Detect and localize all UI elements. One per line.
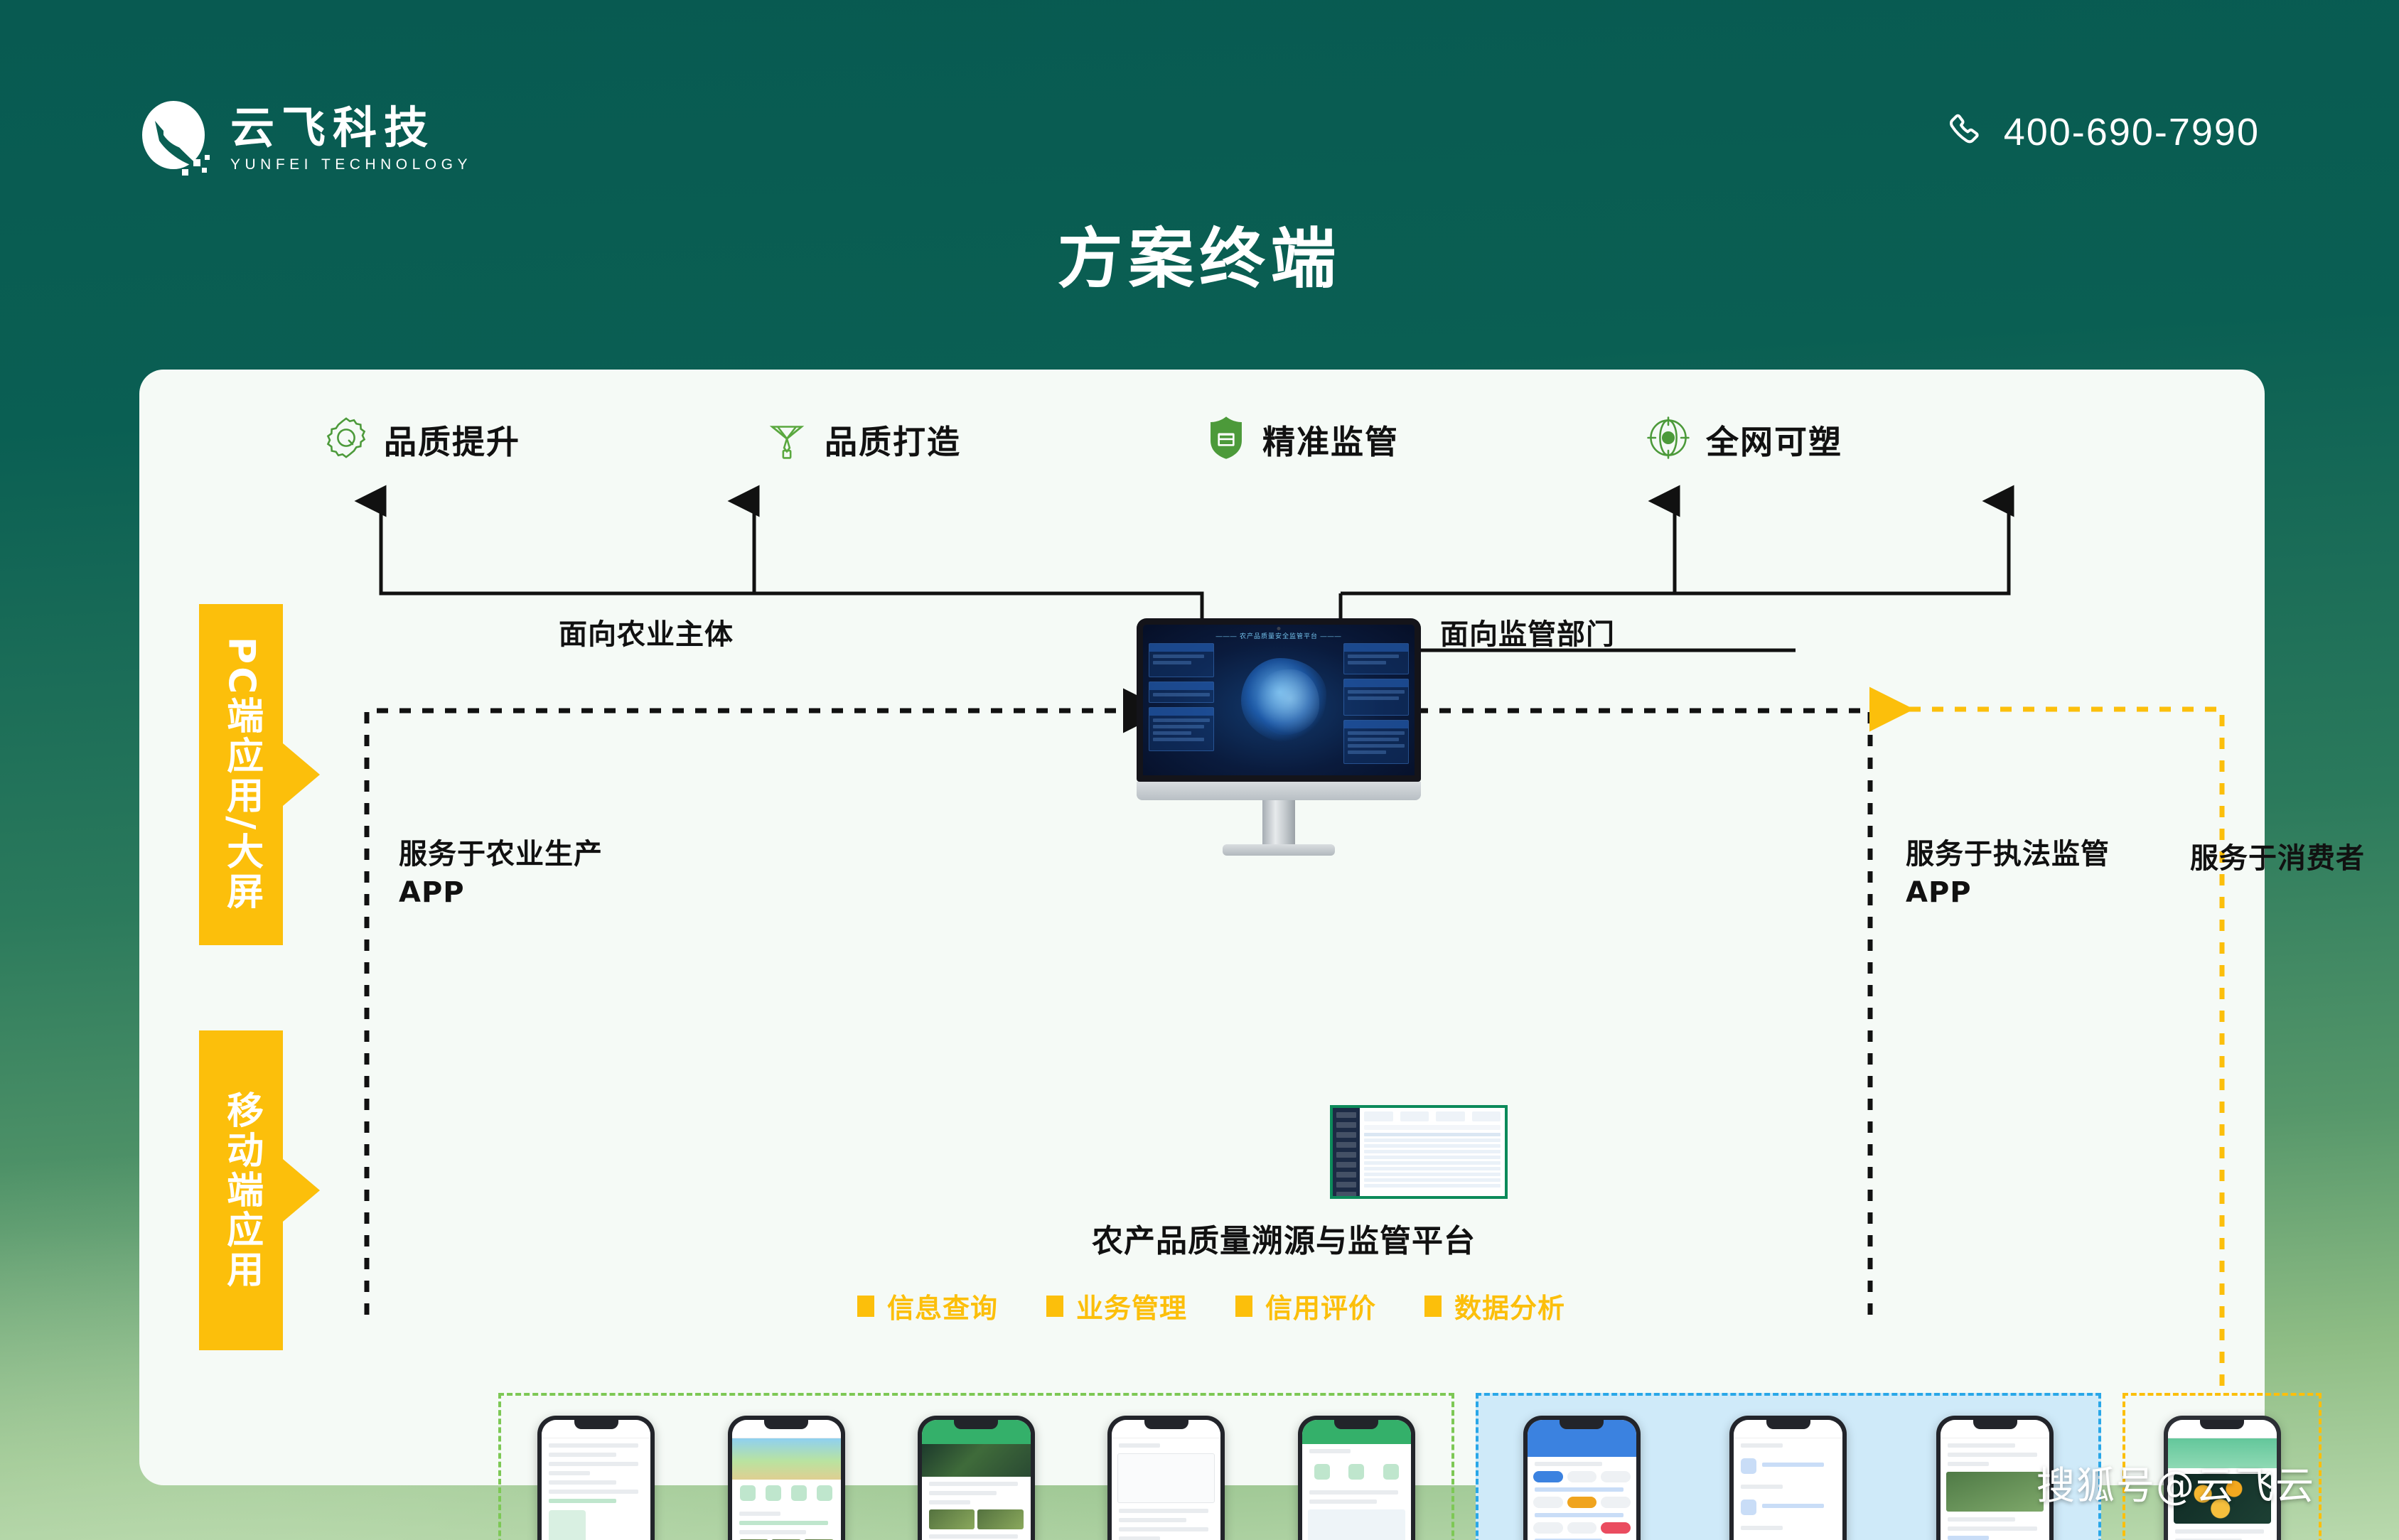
service-label-consumer: 服务于消费者: [2190, 835, 2365, 876]
phone-mockup: [537, 1416, 655, 1540]
feature-label: 品质打造: [825, 416, 961, 463]
phone-mockup: [1298, 1416, 1415, 1540]
poster-root: 云飞科技 YUNFEI TECHNOLOGY 400-690-7990 方案终端: [0, 0, 2399, 1540]
bullet-square-icon: [1046, 1296, 1063, 1317]
feature-item-quality-build[interactable]: 品质打造: [765, 416, 1206, 463]
phone-mockup-row: [1478, 1416, 2098, 1540]
flow-label-left: 面向农业主体: [559, 611, 734, 652]
platform-tag-label: 信用评价: [1265, 1286, 1376, 1325]
header: 云飞科技 YUNFEI TECHNOLOGY 400-690-7990: [0, 0, 2399, 185]
platform-tag[interactable]: 信用评价: [1235, 1286, 1376, 1325]
china-map-graphic: [1241, 658, 1326, 743]
service-label-production: 服务于农业生产 APP: [399, 835, 603, 912]
phone-mockup: [918, 1416, 1035, 1540]
contact-phone[interactable]: 400-690-7990: [1946, 110, 2260, 154]
bullet-square-icon: [1424, 1296, 1442, 1317]
main-card: 品质提升 品质打造: [139, 370, 2265, 1485]
platform-tag-label: 信息查询: [887, 1286, 998, 1325]
sidebar-tab-pc[interactable]: PC端应用/大屏: [199, 604, 283, 945]
sidebar-tab-mobile[interactable]: 移动端应用: [199, 1030, 283, 1350]
phone-mockup: [1729, 1416, 1847, 1540]
watermark: 搜狐号@云飞云: [2036, 1454, 2315, 1510]
quality-gear-icon: [324, 416, 368, 463]
platform-label: 农产品质量溯源与监管平台: [1056, 1215, 1511, 1261]
phone-mockup: [1107, 1416, 1225, 1540]
feature-label: 全网可塑: [1706, 416, 1842, 463]
web-table-panel-icon: [1330, 1105, 1508, 1199]
service-label-enforcement: 服务于执法监管 APP: [1906, 835, 2110, 912]
group-producer-apps: 农资管理 生产过程管控 质量追溯 合格证开具查验 信用管理: [498, 1393, 1454, 1540]
phone-mockup: [1523, 1416, 1641, 1540]
bullet-square-icon: [1235, 1296, 1252, 1317]
desktop-monitor-icon: ——— 农产品质量安全监管平台 ———: [1137, 618, 1421, 856]
platform-tag-label: 数据分析: [1454, 1286, 1565, 1325]
brand-name-en: YUNFEI TECHNOLOGY: [230, 156, 472, 173]
feature-row: 品质提升 品质打造: [324, 416, 2030, 463]
brand-name-cn: 云飞科技: [230, 106, 472, 150]
phone-icon: [1946, 111, 1985, 154]
sidebar-tab-pc-label: PC端应用/大屏: [219, 637, 262, 912]
platform-tag[interactable]: 数据分析: [1424, 1286, 1565, 1325]
platform-tag[interactable]: 业务管理: [1046, 1286, 1187, 1325]
page-title: 方案终端: [0, 206, 2399, 301]
group-regulator-apps: 日常巡查 监督执法 检验检测: [1476, 1393, 2101, 1540]
bullet-square-icon: [857, 1296, 874, 1317]
phone-mockup: [728, 1416, 845, 1540]
phone-number: 400-690-7990: [2004, 110, 2260, 154]
phone-mockup-row: [501, 1416, 1451, 1540]
feature-item-precise-supervision[interactable]: 精准监管: [1206, 416, 1646, 463]
leaf-circle-logo-icon: [139, 99, 215, 179]
sidebar-tab-mobile-label: 移动端应用: [219, 1091, 262, 1290]
feature-item-quality-improve[interactable]: 品质提升: [324, 416, 765, 463]
brand-logo[interactable]: 云飞科技 YUNFEI TECHNOLOGY: [139, 99, 472, 179]
target-crosshair-icon: [1646, 416, 1690, 463]
platform-tag-list: 信息查询 业务管理 信用评价 数据分析: [857, 1286, 1565, 1325]
shield-supervision-icon: [1206, 416, 1247, 463]
feature-label: 精准监管: [1262, 416, 1399, 463]
feature-item-network-shapeable[interactable]: 全网可塑: [1646, 416, 1842, 463]
diamond-icon: [765, 416, 809, 463]
platform-tag[interactable]: 信息查询: [857, 1286, 998, 1325]
flow-label-right: 面向监管部门: [1440, 611, 1615, 652]
platform-tag-label: 业务管理: [1076, 1286, 1187, 1325]
feature-label: 品质提升: [384, 416, 520, 463]
